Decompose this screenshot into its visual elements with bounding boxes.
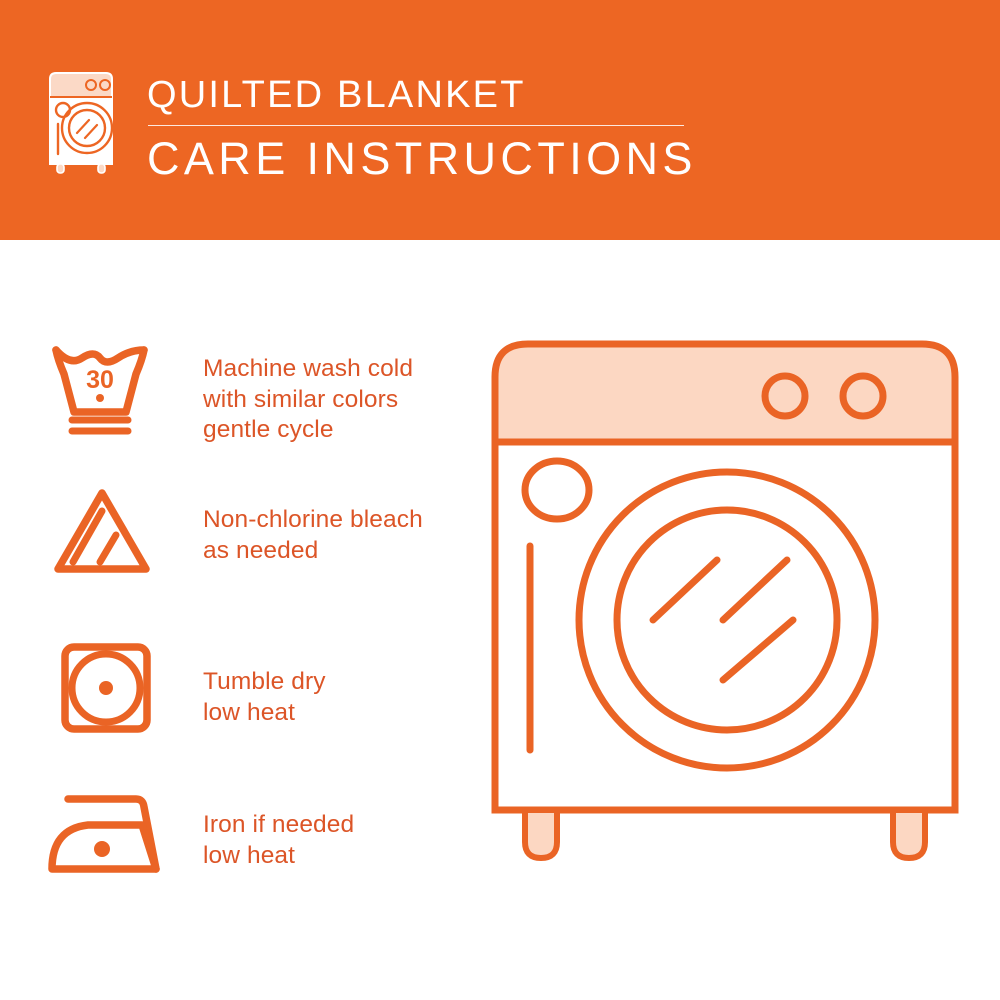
non-chlorine-bleach-triangle-icon — [50, 485, 154, 582]
care-text: Non-chlorine bleach as needed — [203, 505, 423, 566]
title-line-2: CARE INSTRUCTIONS — [147, 132, 747, 186]
care-instructions-list: 30 Machine wash cold with similar colors… — [0, 240, 490, 1000]
svg-text:30: 30 — [86, 366, 114, 394]
washing-machine-icon — [44, 66, 122, 174]
care-text-line: with similar colors — [203, 385, 413, 416]
care-text-line: Iron if needed — [203, 810, 354, 841]
care-text: Iron if needed low heat — [203, 810, 354, 871]
title-divider — [148, 125, 684, 126]
care-text-line: gentle cycle — [203, 415, 413, 446]
front-load-washing-machine-illustration — [485, 330, 965, 940]
page-title: QUILTED BLANKET CARE INSTRUCTIONS — [147, 72, 747, 186]
title-line-1: QUILTED BLANKET — [147, 72, 747, 118]
leg-left — [525, 810, 557, 858]
tumble-dry-low-heat-icon — [58, 640, 154, 741]
care-text-line: low heat — [203, 841, 354, 872]
care-text: Machine wash cold with similar colors ge… — [203, 354, 413, 446]
header-banner: QUILTED BLANKET CARE INSTRUCTIONS — [0, 0, 1000, 240]
care-text-line: Non-chlorine bleach — [203, 505, 423, 536]
care-text-line: Machine wash cold — [203, 354, 413, 385]
wash-tub-30-icon: 30 — [48, 340, 152, 441]
care-text: Tumble dry low heat — [203, 667, 326, 728]
care-text-line: Tumble dry — [203, 667, 326, 698]
care-text-line: low heat — [203, 698, 326, 729]
iron-low-heat-icon — [44, 785, 162, 880]
care-text-line: as needed — [203, 536, 423, 567]
cabinet-body — [495, 440, 955, 810]
leg-right — [893, 810, 925, 858]
